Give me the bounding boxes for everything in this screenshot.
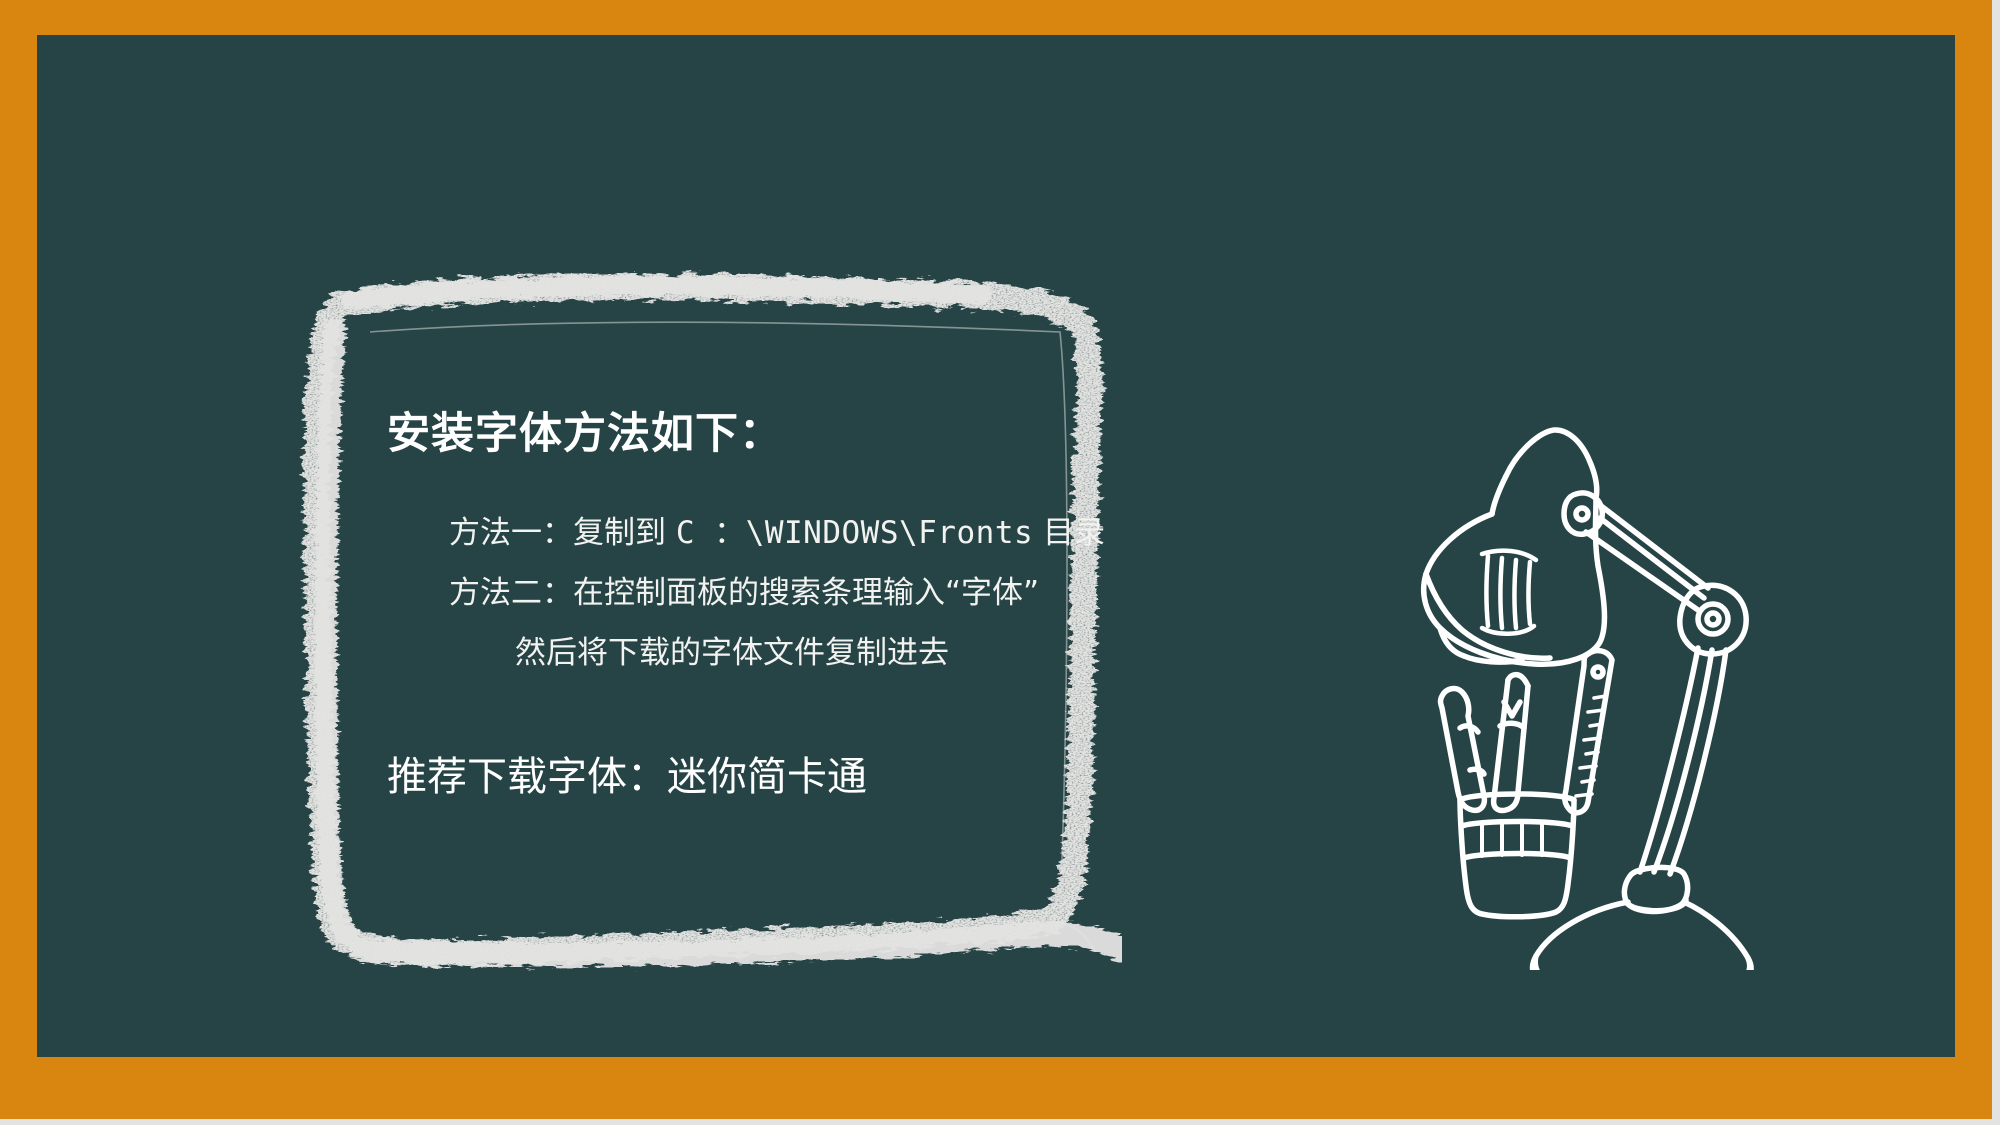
method-list: 方法一：复制到 C ：\WINDOWS\Fronts 目录 方法二：在控制面板的…: [449, 511, 1107, 615]
lamp-base-dome: [1533, 902, 1751, 970]
pencil-cup: [1460, 794, 1574, 917]
pencil-cup-band-ticks: [1482, 822, 1542, 856]
method-item-2: 方法二：在控制面板的搜索条理输入“字体”: [449, 571, 1107, 615]
method-1-path: C ：\WINDOWS\Fronts: [676, 515, 1033, 551]
method-1-suffix: 目录: [1033, 515, 1105, 551]
slide-root: 安装字体方法如下： 方法一：复制到 C ：\WINDOWS\Fronts 目录 …: [0, 0, 2000, 1125]
desk-lamp-illustration: [1382, 410, 1802, 970]
method-item-1: 方法一：复制到 C ：\WINDOWS\Fronts 目录: [449, 511, 1107, 555]
method-1-label: 方法一：复制到: [449, 515, 676, 551]
pen: [1441, 689, 1485, 811]
lamp-base-collar: [1624, 867, 1687, 911]
method-2-label: 方法二：在控制面板的搜索条理输入“字体”: [449, 575, 1039, 611]
recommended-font-text: 推荐下载字体：迷你简卡通: [387, 753, 1107, 801]
slide-edge-strip-bottom: [0, 1119, 2000, 1125]
ruler: [1565, 651, 1612, 813]
lamp-elbow-joint: [1680, 585, 1746, 654]
slide-edge-strip-right: [1992, 0, 2000, 1125]
lamp-bulb-hatching: [1482, 551, 1536, 634]
lamp-lower-arm: [1640, 648, 1726, 874]
chalkboard-surface: 安装字体方法如下： 方法一：复制到 C ：\WINDOWS\Fronts 目录 …: [37, 35, 1955, 1057]
lamp-shade-bell: [1424, 498, 1605, 664]
content-block: 安装字体方法如下： 方法一：复制到 C ：\WINDOWS\Fronts 目录 …: [387, 410, 1107, 801]
page-title: 安装字体方法如下：: [387, 410, 1107, 459]
lamp-shade-joint: [1564, 493, 1602, 534]
pencil: [1494, 675, 1528, 811]
lamp-shade-cap: [1492, 430, 1597, 514]
lamp-upper-arm: [1586, 502, 1708, 610]
method-2-continuation: 然后将下载的字体文件复制进去: [515, 631, 1107, 675]
